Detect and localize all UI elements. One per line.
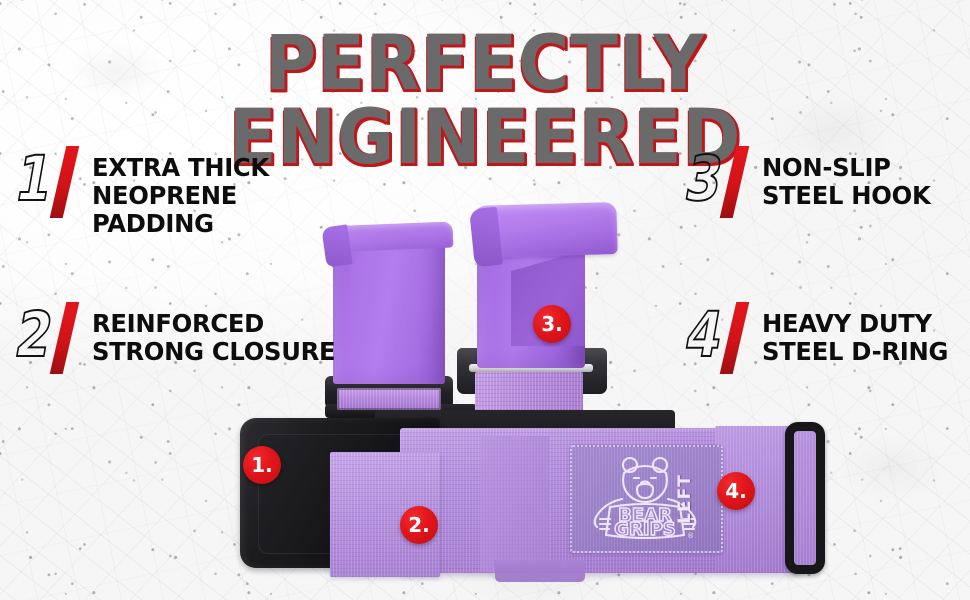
infographic-canvas: PERFECTLY ENGINEERED 1 EXTRA THICK NEOPR… <box>0 0 970 600</box>
feature-4-line-1: HEAVY DUTY <box>762 310 948 338</box>
feature-item-3: 3 NON-SLIP STEEL HOOK <box>692 152 936 214</box>
callout-badge-4: 4. <box>717 472 755 510</box>
hook-left-webbing <box>337 388 441 410</box>
feature-3-line-2: STEEL HOOK <box>762 182 930 210</box>
feature-2-line-2: STRONG CLOSURE <box>92 338 335 366</box>
product-image: BEAR GRIPS ® LEFT <box>225 190 785 590</box>
feature-1-line-2: NEOPRENE <box>92 182 269 210</box>
feature-3-text: NON-SLIP STEEL HOOK <box>750 152 936 210</box>
feature-2-number-block: 2 <box>22 308 80 370</box>
brand-label: BEAR GRIPS ® LEFT <box>570 445 723 553</box>
brand-logo: BEAR GRIPS ® LEFT <box>588 453 706 545</box>
registered-trademark-icon: ® <box>687 532 694 540</box>
feature-4-text: HEAVY DUTY STEEL D-RING <box>750 308 954 366</box>
feature-1-number-block: 1 <box>22 152 80 214</box>
feature-1-line-1: EXTRA THICK <box>92 154 269 182</box>
feature-3-line-1: NON-SLIP <box>762 154 930 182</box>
callout-badge-1: 1. <box>243 446 281 484</box>
feature-2-text: REINFORCED STRONG CLOSURE <box>80 308 343 366</box>
side-marking-label: LEFT <box>675 474 695 524</box>
nylon-strap-tail <box>495 560 585 582</box>
brand-word-2: GRIPS <box>614 519 676 540</box>
feature-item-1: 1 EXTRA THICK NEOPRENE PADDING <box>22 152 274 238</box>
hook-left-lip <box>321 224 352 267</box>
feature-4-line-2: STEEL D-RING <box>762 338 948 366</box>
hook-right-lip <box>469 207 503 268</box>
feature-item-2: 2 REINFORCED STRONG CLOSURE <box>22 308 343 370</box>
feature-1-text: EXTRA THICK NEOPRENE PADDING <box>80 152 274 238</box>
callout-badge-3: 3. <box>533 305 571 343</box>
feature-item-4: 4 HEAVY DUTY STEEL D-RING <box>692 308 954 370</box>
feature-2-line-1: REINFORCED <box>92 310 335 338</box>
nylon-strap-fold <box>480 436 550 572</box>
feature-4-number-block: 4 <box>692 308 750 370</box>
callout-badge-2: 2. <box>400 506 438 544</box>
feature-1-line-3: PADDING <box>92 210 269 238</box>
feature-3-number-block: 3 <box>692 152 750 214</box>
steel-d-ring <box>785 422 825 574</box>
